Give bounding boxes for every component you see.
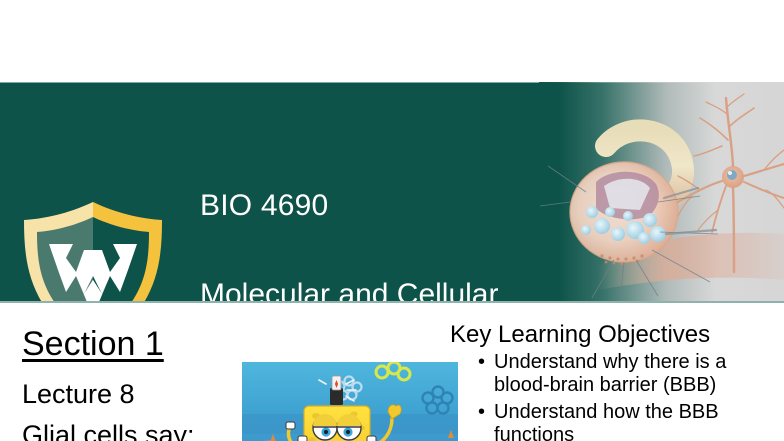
- title-banner: BIO 4690 Molecular and Cellular Neurobio…: [0, 82, 784, 303]
- course-code: BIO 4690: [200, 189, 328, 223]
- key-learning-objectives-title: Key Learning Objectives: [450, 321, 710, 349]
- key-learning-objectives-list: • Understand why there is a blood-brain …: [478, 351, 778, 441]
- objective-text: Understand why there is a blood-brain ba…: [494, 351, 778, 396]
- bullet-glyph: •: [478, 401, 485, 441]
- list-item: • Understand why there is a blood-brain …: [478, 351, 778, 396]
- glial-cells-label: Glial cells say:: [22, 420, 195, 441]
- list-item: • Understand how the BBB functions: [478, 401, 778, 441]
- bullet-glyph: •: [478, 351, 485, 396]
- spongebob-cartoon-image: [242, 362, 458, 441]
- synapse-neuron-artwork: [539, 82, 784, 303]
- lecture-label: Lecture 8: [22, 379, 135, 410]
- objective-text: Understand how the BBB functions: [494, 401, 778, 441]
- wayne-state-shield-logo: [14, 198, 172, 303]
- course-title: Molecular and Cellular Neurobiology: [200, 275, 560, 303]
- section-heading: Section 1: [22, 325, 164, 364]
- top-margin-strip: [0, 0, 784, 82]
